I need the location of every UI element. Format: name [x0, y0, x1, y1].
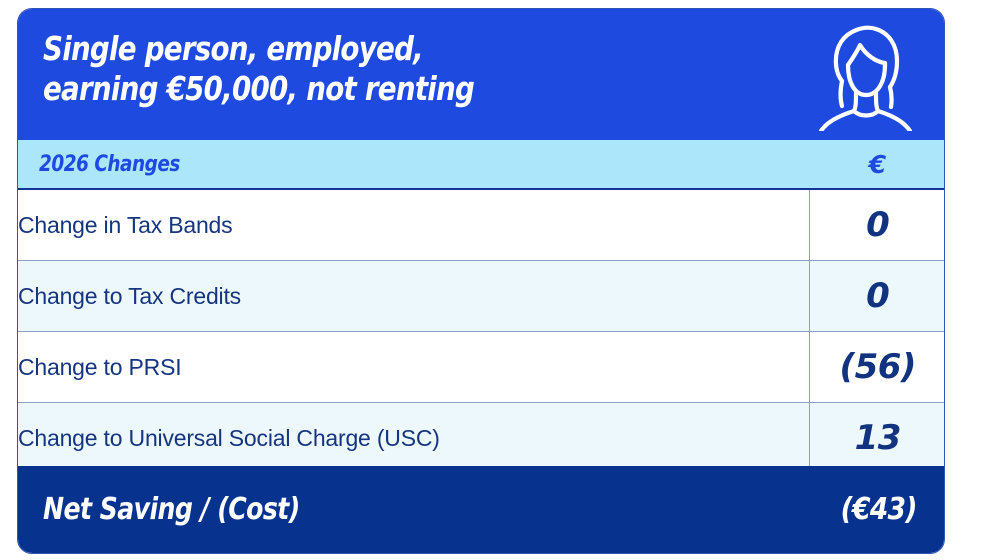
row-value: 0 — [809, 189, 945, 261]
card-header: Single person, employed, earning €50,000… — [18, 9, 944, 140]
row-label: Change in Tax Bands — [18, 189, 809, 261]
row-value: (56) — [809, 332, 945, 403]
table-header-row: 2026 Changes € — [18, 140, 945, 189]
female-avatar-icon — [812, 21, 918, 131]
table-row: Change to Universal Social Charge (USC) … — [18, 403, 945, 474]
page-title: Single person, employed, earning €50,000… — [43, 29, 564, 109]
table-row: Change to PRSI (56) — [18, 332, 945, 403]
net-total-label: Net Saving / (Cost) — [43, 492, 300, 527]
column-header-currency: € — [809, 140, 945, 189]
net-total-footer: Net Saving / (Cost) (€43) — [18, 466, 944, 553]
column-header-changes-label: 2026 Changes — [18, 152, 682, 177]
changes-table: 2026 Changes € Change in Tax Bands 0 Cha… — [18, 140, 945, 474]
row-label: Change to Tax Credits — [18, 261, 809, 332]
row-label: Change to PRSI — [18, 332, 809, 403]
table-row: Change to Tax Credits 0 — [18, 261, 945, 332]
column-header-changes: 2026 Changes — [18, 140, 809, 189]
table-row: Change in Tax Bands 0 — [18, 189, 945, 261]
net-total-value: (€43) — [841, 492, 919, 527]
row-value: 13 — [809, 403, 945, 474]
row-value: 0 — [809, 261, 945, 332]
row-label: Change to Universal Social Charge (USC) — [18, 403, 809, 474]
tax-summary-card: Single person, employed, earning €50,000… — [17, 8, 945, 554]
